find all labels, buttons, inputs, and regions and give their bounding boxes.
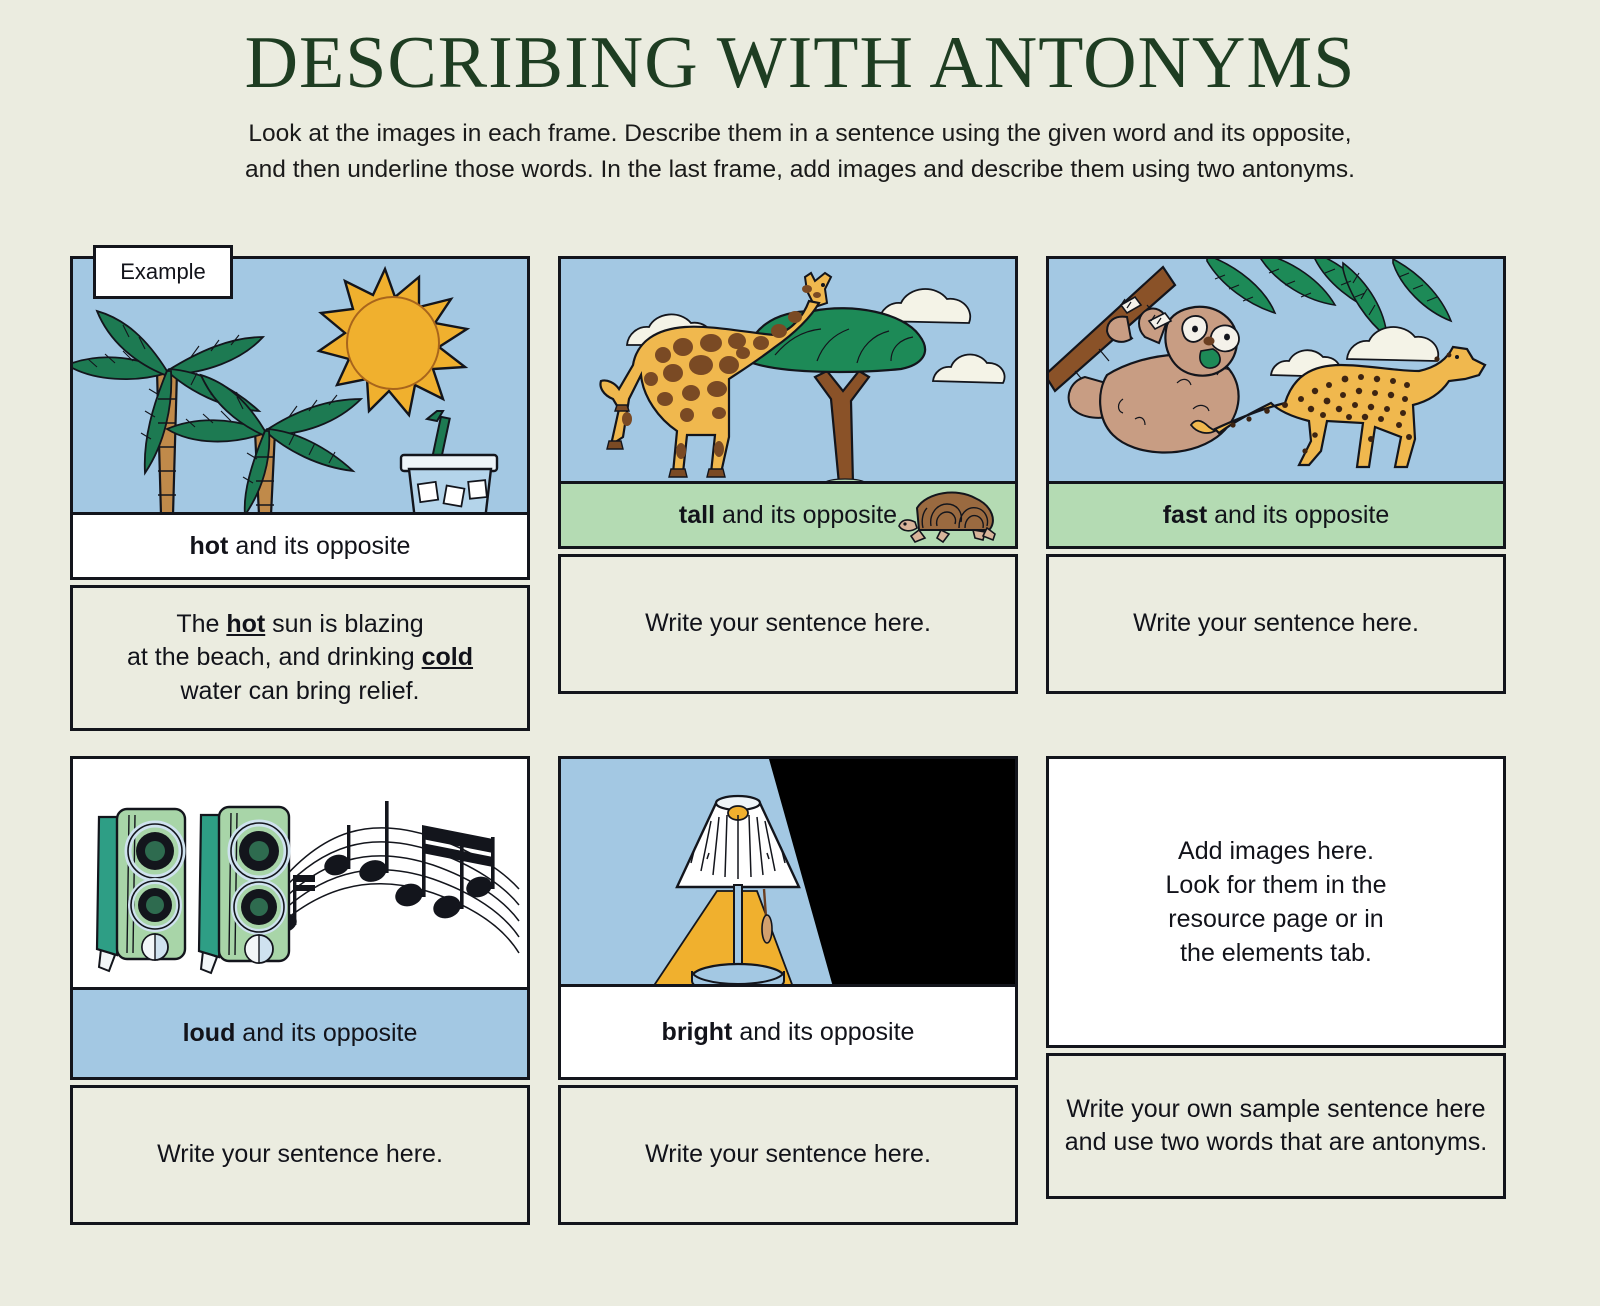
page-title: DESCRIBING WITH ANTONYMS (0, 26, 1600, 100)
savanna-scene-illustration (561, 259, 1015, 484)
answer-text-part-4: water can bring relief. (180, 677, 419, 705)
placeholder-line-1: Add images here. (1166, 834, 1387, 868)
instructions-line-2: and then underline those words. In the l… (185, 152, 1415, 188)
music-notes (271, 801, 495, 935)
worksheet-grid: hot and its opposite Example The hot sun… (70, 248, 1502, 1228)
frame-bright-caption: bright and its opposite (561, 987, 1015, 1077)
frame-loud-answer[interactable]: Write your sentence here. (70, 1085, 530, 1225)
frame-fast-image (1049, 259, 1503, 484)
instructions: Look at the images in each frame. Descri… (185, 116, 1415, 187)
frame-bright-suffix: and its opposite (732, 1018, 914, 1046)
frame-loud-card: loud and its opposite (70, 756, 530, 1080)
frame-fast-card: fast and its opposite (1046, 256, 1506, 549)
answer-underline-cold: cold (422, 643, 473, 671)
frame-loud-image (73, 759, 527, 987)
frame-hot-caption: hot and its opposite (73, 515, 527, 577)
frame-loud-word: loud (183, 1019, 236, 1047)
frame-bright-card: bright and its opposite (558, 756, 1018, 1080)
frame-blank-card[interactable]: Add images here. Look for them in the re… (1046, 756, 1506, 1048)
placeholder-line-4: the elements tab. (1166, 936, 1387, 970)
frame-bright-answer[interactable]: Write your sentence here. (558, 1085, 1018, 1225)
frame-fast: fast and its opposite Write your sentenc… (1046, 256, 1506, 694)
frame-fast-answer[interactable]: Write your sentence here. (1046, 554, 1506, 694)
frame-hot-word: hot (190, 532, 229, 560)
speaker-left (97, 809, 185, 971)
jungle-scene-illustration (1049, 259, 1503, 484)
answer-underline-hot: hot (226, 610, 265, 638)
frame-bright-word: bright (662, 1018, 733, 1046)
frame-tall-answer[interactable]: Write your sentence here. (558, 554, 1018, 694)
frame-tall-suffix: and its opposite (715, 501, 897, 529)
frame-bright-image (561, 759, 1015, 987)
iced-drink-icon (391, 409, 511, 515)
frame-tall-card: tall and its opposite (558, 256, 1018, 549)
answer-text-part-2: sun is blazing (265, 610, 423, 638)
frame-fast-caption: fast and its opposite (1049, 484, 1503, 546)
speaker-right (199, 807, 289, 973)
answer-text-part-1: The (176, 610, 226, 638)
frame-fast-word: fast (1163, 501, 1207, 529)
lamp-scene-illustration (561, 759, 1015, 987)
instructions-line-1: Look at the images in each frame. Descri… (185, 116, 1415, 152)
frame-hot-card: hot and its opposite Example (70, 256, 530, 580)
answer-text-part-3: at the beach, and drinking (127, 643, 422, 671)
music-staff-illustration (73, 759, 527, 987)
frame-blank: Add images here. Look for them in the re… (1046, 756, 1506, 1199)
frame-blank-answer[interactable]: Write your own sample sentence here and … (1046, 1053, 1506, 1199)
frame-loud-suffix: and its opposite (235, 1019, 417, 1047)
placeholder-line-3: resource page or in (1166, 902, 1387, 936)
example-tag: Example (93, 245, 233, 299)
frame-hot-suffix: and its opposite (228, 532, 410, 560)
frame-tall-image (561, 259, 1015, 484)
frame-blank-image-placeholder[interactable]: Add images here. Look for them in the re… (1049, 759, 1503, 1045)
frame-fast-suffix: and its opposite (1207, 501, 1389, 529)
placeholder-line-2: Look for them in the (1166, 868, 1387, 902)
frame-tall: tall and its opposite (558, 256, 1018, 694)
frame-tall-caption: tall and its opposite (561, 484, 1015, 546)
frame-hot: hot and its opposite Example The hot sun… (70, 256, 530, 731)
frame-loud: loud and its opposite Write your sentenc… (70, 756, 530, 1225)
frame-loud-caption: loud and its opposite (73, 987, 527, 1077)
frame-bright: bright and its opposite Write your sente… (558, 756, 1018, 1225)
tortoise-icon (897, 484, 1009, 544)
frame-hot-answer[interactable]: The hot sun is blazing at the beach, and… (70, 585, 530, 731)
frame-tall-word: tall (679, 501, 715, 529)
